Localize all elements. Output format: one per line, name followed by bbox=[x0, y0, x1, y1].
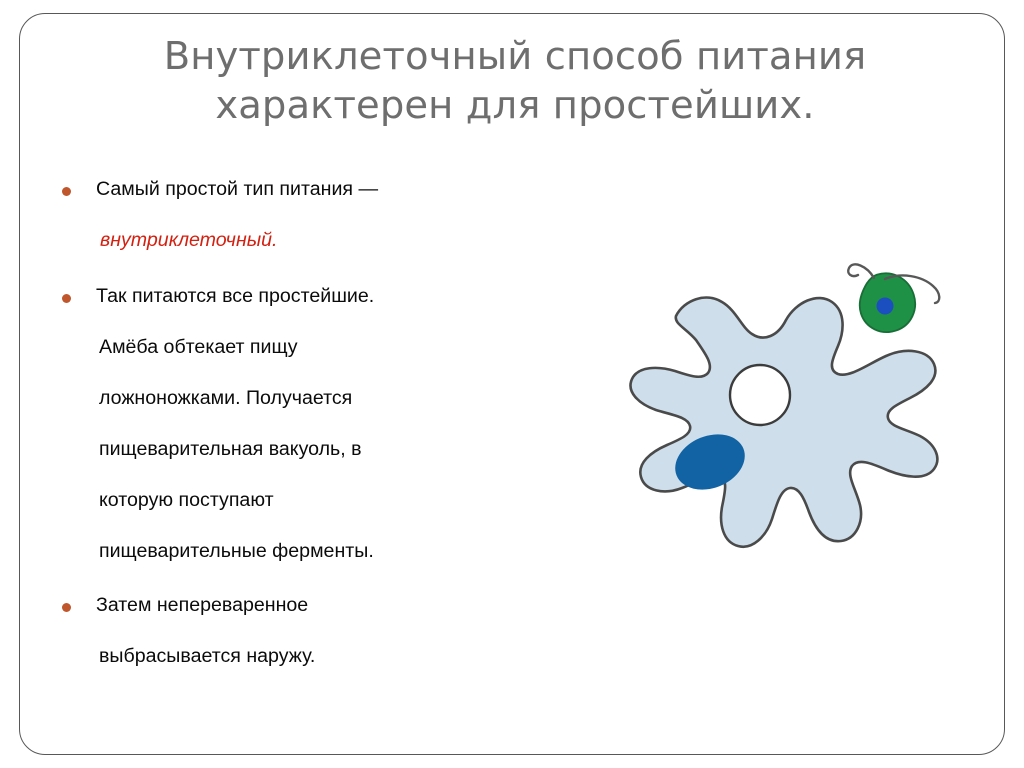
food-vacuole-icon bbox=[730, 365, 790, 425]
list-item-text: Так питаются все простейшие. Амёба обтек… bbox=[96, 283, 552, 564]
content-body: Самый простой тип питания — внутриклеточ… bbox=[52, 176, 552, 681]
list-item-text: Затем непереваренное выбрасывается наруж… bbox=[96, 592, 552, 669]
flagellum-left-icon bbox=[848, 264, 874, 278]
bullet-marker-icon bbox=[62, 294, 71, 303]
bullet-marker-icon bbox=[62, 603, 71, 612]
flagellate-nucleus-icon bbox=[877, 298, 894, 315]
list-item: Так питаются все простейшие. Амёба обтек… bbox=[52, 283, 552, 564]
bullet-1-line-2-accent: внутриклеточный. bbox=[100, 227, 552, 253]
bullet-2-line-5: которую поступают bbox=[99, 487, 552, 513]
slide: Внутриклеточный способ питания характере… bbox=[0, 0, 1024, 768]
page-title: Внутриклеточный способ питания характере… bbox=[70, 32, 960, 130]
bullet-2-line-2: Амёба обтекает пищу bbox=[99, 334, 552, 360]
list-item: Затем непереваренное выбрасывается наруж… bbox=[52, 592, 552, 669]
amoeba-body-shape bbox=[631, 298, 938, 547]
bullet-2-line-4: пищеварительная вакуоль, в bbox=[99, 436, 552, 462]
bullet-3-line-2: выбрасывается наружу. bbox=[99, 643, 552, 669]
page-title-line-2: характерен для простейших. bbox=[70, 81, 960, 130]
list-item-text: Самый простой тип питания — внутриклеточ… bbox=[96, 176, 552, 253]
bullet-2-line-3: ложноножками. Получается bbox=[99, 385, 552, 411]
list-item: Самый простой тип питания — внутриклеточ… bbox=[52, 176, 552, 253]
bullet-1-line-1: Самый простой тип питания — bbox=[96, 176, 552, 202]
bullet-2-line-6: пищеварительные ферменты. bbox=[99, 538, 552, 564]
bullet-marker-icon bbox=[62, 187, 71, 196]
page-title-line-1: Внутриклеточный способ питания bbox=[70, 32, 960, 81]
bullet-3-line-1: Затем непереваренное bbox=[96, 592, 552, 618]
bullet-2-line-1: Так питаются все простейшие. bbox=[96, 283, 552, 309]
amoeba-illustration bbox=[556, 258, 976, 638]
